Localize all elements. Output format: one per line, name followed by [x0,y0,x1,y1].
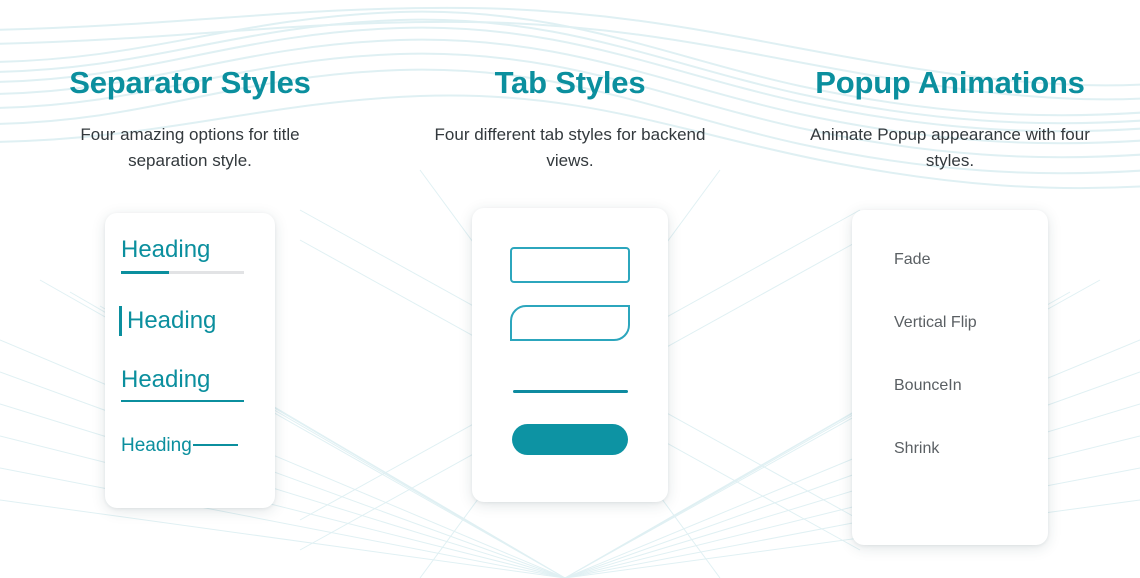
description-popup-animations: Animate Popup appearance with four style… [805,122,1095,175]
separator-heading-label: Heading [121,436,192,455]
separator-style-left-vertical-bar[interactable]: Heading [119,306,275,336]
separator-style-inline-trailing-line[interactable]: Heading [121,436,275,455]
feature-columns: Separator Styles Four amazing options fo… [0,0,1140,578]
popup-animation-option-shrink[interactable]: Shrink [852,441,1048,457]
separator-heading-label: Heading [121,238,275,262]
description-tab-styles: Four different tab styles for backend vi… [425,122,715,175]
page-title-popup-animations: Popup Animations [815,66,1084,100]
popup-animations-card: Fade Vertical Flip BounceIn Shrink [852,210,1048,545]
separator-vertical-bar [119,306,122,336]
page-title-separator-styles: Separator Styles [69,66,310,100]
separator-trailing-line [193,444,238,446]
popup-animation-option-bouncein[interactable]: BounceIn [852,378,1048,394]
separator-full-rule [121,400,244,402]
tab-style-underline-bar[interactable] [513,390,628,393]
tab-style-outlined-diagonal-rounded[interactable] [510,305,630,341]
column-separator-styles: Separator Styles Four amazing options fo… [0,0,380,578]
tab-style-filled-pill[interactable] [512,424,628,455]
page-title-tab-styles: Tab Styles [495,66,646,100]
separator-rule-fill [121,271,169,274]
separator-style-underline-progress[interactable]: Heading [121,238,275,274]
separator-heading-label: Heading [127,309,216,333]
separator-rule-track [121,271,244,274]
separator-heading-label: Heading [121,368,275,392]
tab-styles-card [472,208,668,502]
column-tab-styles: Tab Styles Four different tab styles for… [380,0,760,578]
separator-style-full-underline[interactable]: Heading [121,368,275,402]
column-popup-animations: Popup Animations Animate Popup appearanc… [760,0,1140,578]
separator-styles-card: Heading Heading Heading Heading [105,213,275,508]
tab-style-outlined-square[interactable] [510,247,630,283]
popup-animation-option-fade[interactable]: Fade [852,252,1048,268]
popup-animation-option-vertical-flip[interactable]: Vertical Flip [852,315,1048,331]
description-separator-styles: Four amazing options for title separatio… [45,122,335,175]
